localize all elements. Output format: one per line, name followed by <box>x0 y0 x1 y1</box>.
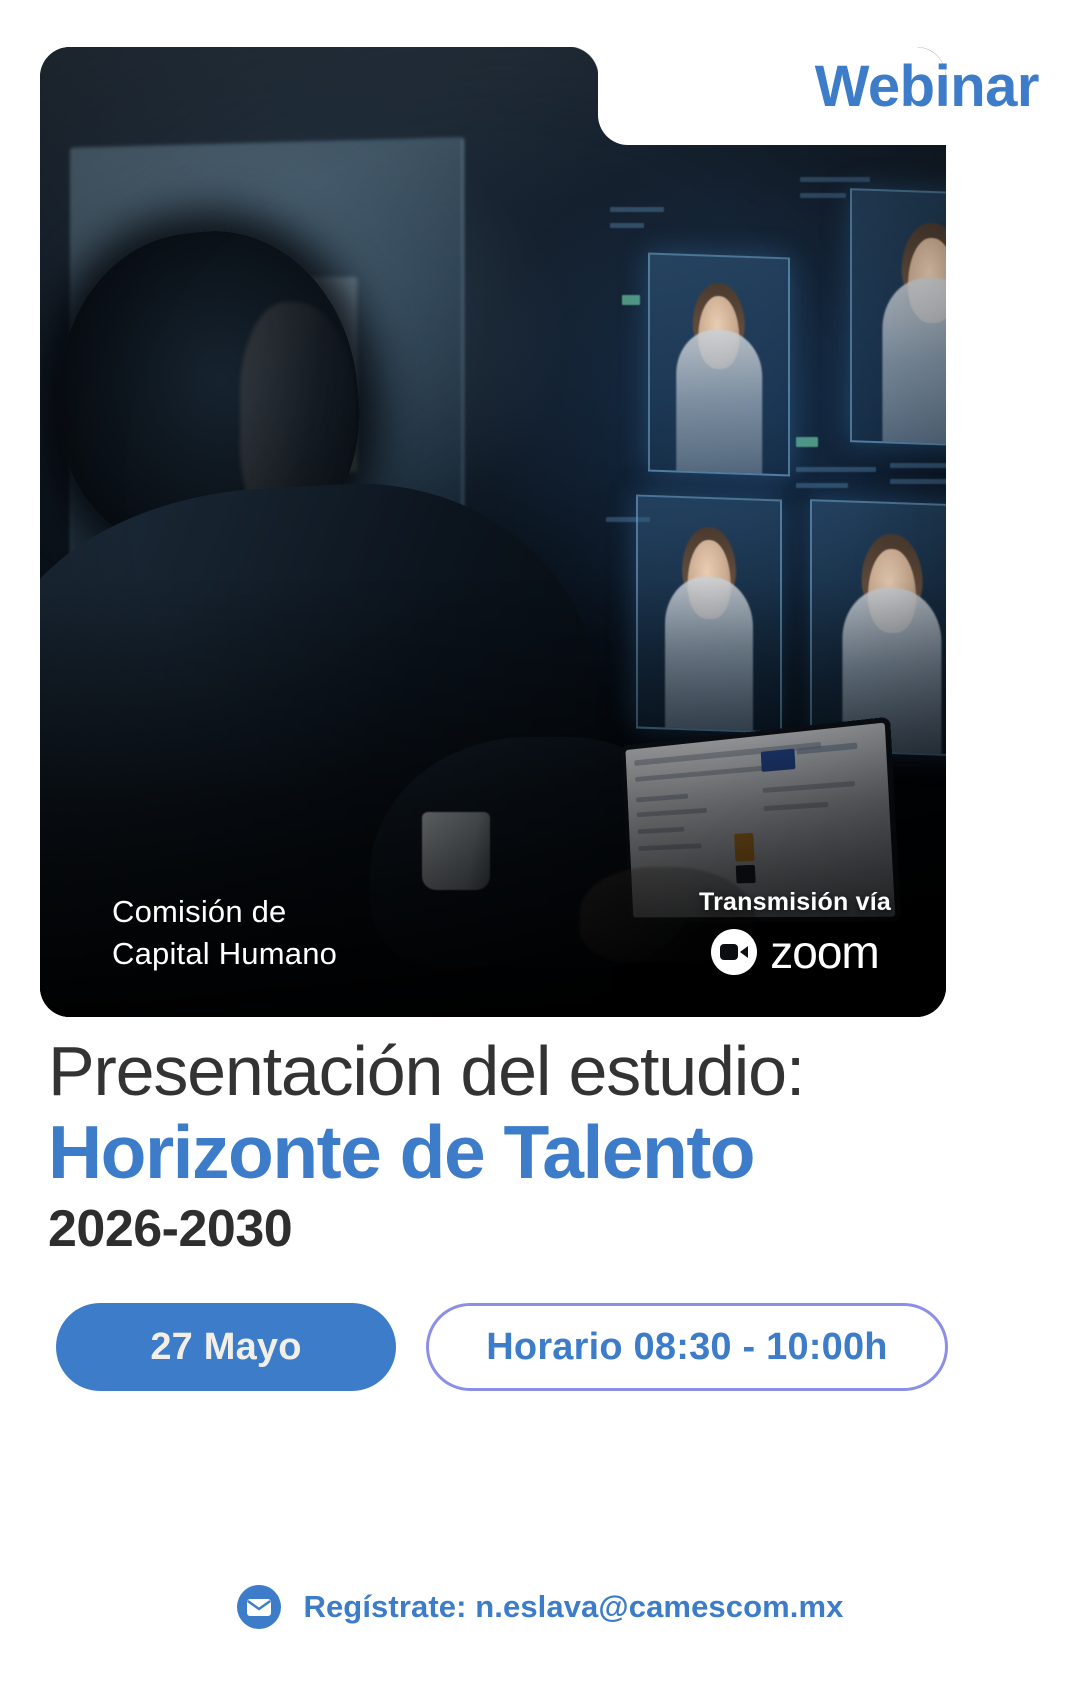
hud-indicator <box>796 437 818 447</box>
laptop-ui-line <box>763 781 856 793</box>
laptop-ui-line <box>763 802 828 811</box>
page-title-line-1: Presentación del estudio: <box>48 1035 804 1108</box>
laptop-ui-accent <box>734 833 754 862</box>
laptop-ui-line <box>638 843 701 851</box>
participant-tile <box>636 494 782 733</box>
registration-footer[interactable]: Regístrate: n.eslava@camescom.mx <box>0 1585 1081 1629</box>
hud-line <box>796 467 876 472</box>
laptop-ui-line <box>638 827 685 834</box>
event-time-pill[interactable]: Horario 08:30 - 10:00h <box>426 1303 948 1391</box>
laptop-ui-line <box>637 808 707 817</box>
video-camera-icon <box>711 929 757 975</box>
hero-image-card: Comisión de Capital Humano Transmisión v… <box>40 47 946 1017</box>
page-title-line-3: 2026-2030 <box>48 1203 292 1255</box>
laptop-ui-line <box>635 765 771 782</box>
commission-line-2: Capital Humano <box>112 933 337 975</box>
hud-line <box>610 223 644 228</box>
zoom-wordmark: zoom <box>770 929 878 975</box>
hud-line <box>796 483 848 488</box>
avatar-body <box>882 276 946 448</box>
video-call-tiles <box>600 167 946 757</box>
commission-label: Comisión de Capital Humano <box>112 891 337 975</box>
hud-indicator <box>622 295 640 305</box>
laptop-ui-accent <box>736 865 756 883</box>
hud-line <box>890 479 946 484</box>
hud-line <box>610 207 664 212</box>
broadcast-label: Transmisión vía <box>699 888 891 917</box>
participant-tile <box>648 253 790 477</box>
event-date-pill[interactable]: 27 Mayo <box>56 1303 396 1391</box>
page-title-line-2: Horizonte de Talento <box>48 1113 754 1191</box>
hud-line <box>890 463 946 468</box>
participant-tile <box>850 188 946 448</box>
laptop-ui-accent <box>761 749 796 772</box>
registration-text: Regístrate: n.eslava@camescom.mx <box>303 1589 843 1625</box>
avatar-body <box>676 329 762 477</box>
avatar-body <box>665 576 753 734</box>
broadcast-block: Transmisión vía zoom <box>699 888 891 975</box>
envelope-icon <box>237 1585 281 1629</box>
coffee-mug <box>422 812 490 890</box>
hud-line <box>800 193 846 198</box>
laptop-ui-line <box>636 794 688 803</box>
hud-line <box>800 177 870 182</box>
webinar-badge-label: Webinar <box>681 58 1081 116</box>
zoom-logo: zoom <box>699 929 891 975</box>
commission-line-1: Comisión de <box>112 891 337 933</box>
